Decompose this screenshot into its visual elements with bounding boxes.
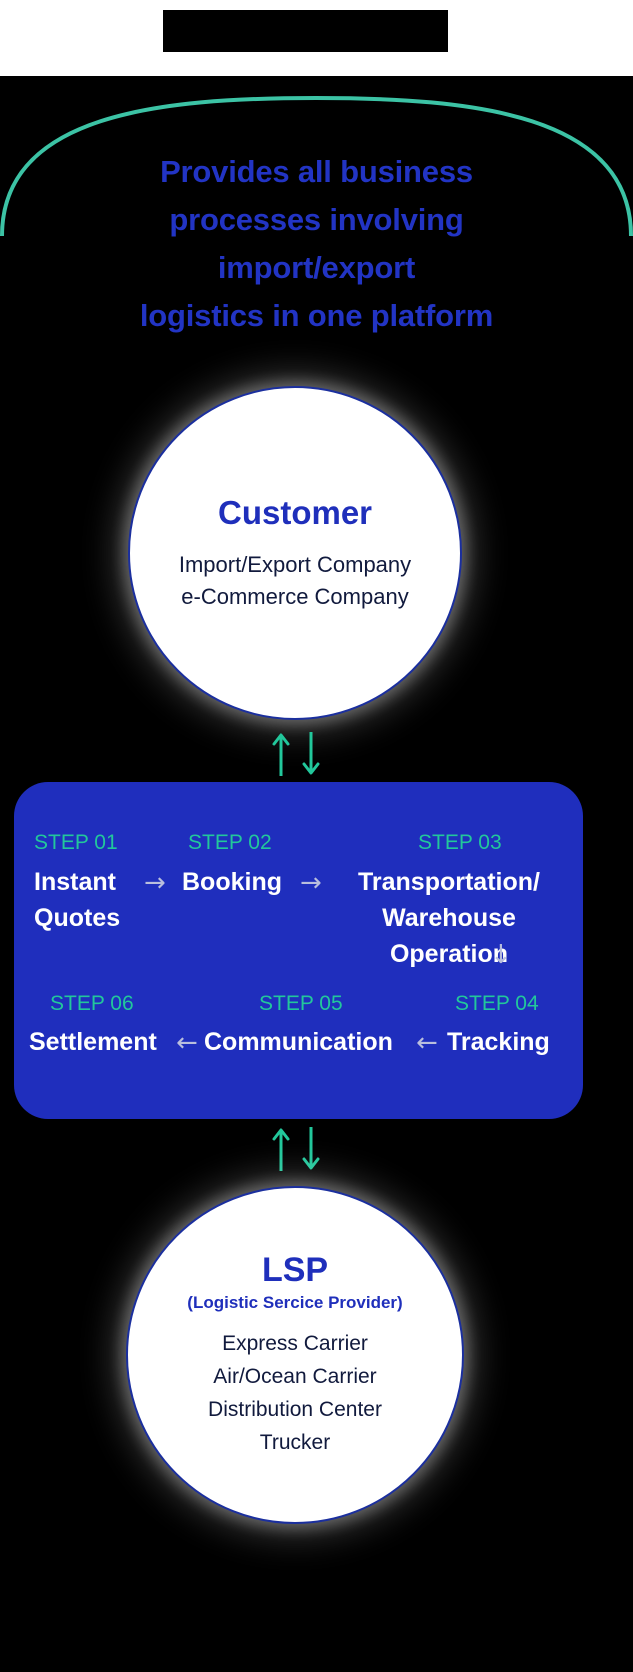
step-kicker-05: STEP 05 <box>259 991 343 1017</box>
step-kicker-03: STEP 03 <box>418 830 502 856</box>
lsp-circle: LSP (Logistic Sercice Provider) Express … <box>126 1186 464 1524</box>
customer-title: Customer <box>218 493 372 533</box>
lsp-subtitle: (Logistic Sercice Provider) <box>187 1289 402 1317</box>
flow-arrow-down-1: ↓ <box>490 942 512 968</box>
step-kicker-01: STEP 01 <box>34 830 118 856</box>
headline-line-1: Provides all business <box>0 148 633 196</box>
headline-line-3: import/export <box>0 244 633 292</box>
lsp-item-2: Air/Ocean Carrier <box>213 1360 376 1393</box>
lsp-item-1: Express Carrier <box>222 1327 368 1360</box>
step-label-02: Booking <box>182 864 282 900</box>
flow-arrow-left-1: ← <box>416 1030 438 1056</box>
step-kicker-02: STEP 02 <box>188 830 272 856</box>
customer-circle: Customer Import/Export Company e-Commerc… <box>128 386 462 720</box>
title-band <box>0 0 633 76</box>
lsp-title: LSP <box>262 1251 328 1289</box>
lsp-item-3: Distribution Center <box>208 1393 382 1426</box>
step-label-01: InstantQuotes <box>34 864 144 936</box>
page-title-redacted <box>163 10 448 52</box>
step-kicker-04: STEP 04 <box>455 991 539 1017</box>
panel-lsp-arrows <box>265 1125 345 1173</box>
step-label-04: Tracking <box>447 1024 550 1060</box>
step-label-05: Communication <box>204 1024 393 1060</box>
up-down-arrow-icon <box>265 730 345 778</box>
process-steps-panel: STEP 01 InstantQuotes → STEP 02 Booking … <box>14 782 583 1119</box>
page-headline: Provides all business processes involvin… <box>0 148 633 340</box>
flow-arrow-right-1: → <box>144 870 166 896</box>
step-kicker-06: STEP 06 <box>50 991 134 1017</box>
headline-line-4: logistics in one platform <box>0 292 633 340</box>
step-label-06: Settlement <box>29 1024 157 1060</box>
step-label-03: Transportation/Warehouse Operation <box>324 864 574 972</box>
flow-arrow-left-2: ← <box>176 1030 198 1056</box>
flow-arrow-right-2: → <box>300 870 322 896</box>
customer-line-1: Import/Export Company <box>179 549 411 581</box>
lsp-item-4: Trucker <box>260 1426 330 1459</box>
infographic-page: Provides all business processes involvin… <box>0 0 633 1672</box>
up-down-arrow-icon <box>265 1125 345 1173</box>
headline-line-2: processes involving <box>0 196 633 244</box>
customer-panel-arrows <box>265 730 345 778</box>
customer-line-2: e-Commerce Company <box>181 581 408 613</box>
